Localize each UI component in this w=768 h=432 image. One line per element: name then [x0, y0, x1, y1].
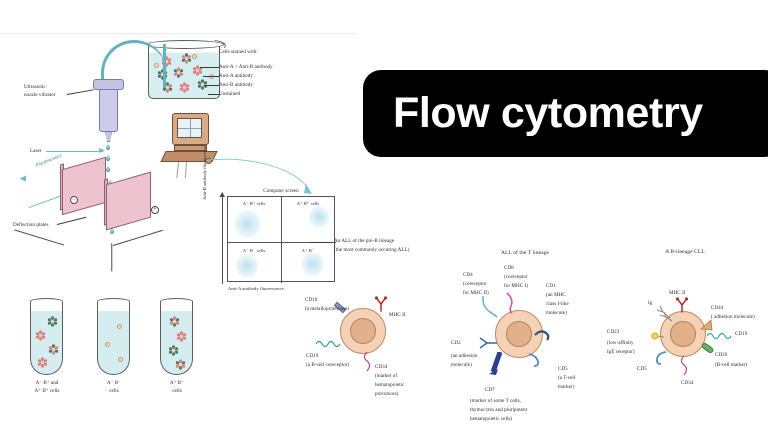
ultrasonic-label-line1: Ultrasonic — [24, 84, 46, 91]
cd44-desc: ( adhesion molecule) — [711, 314, 755, 321]
cd1-desc-line3: molecule) — [546, 310, 567, 317]
ig-label: Ig — [648, 300, 652, 307]
cd5-desc-line1: (a T-cell — [558, 375, 575, 382]
sorted-cell — [38, 358, 47, 367]
unstained-cell — [190, 52, 199, 61]
plot-cluster-bottom-left — [236, 253, 258, 279]
cd19-name-panel1: CD19 — [306, 353, 318, 360]
fluorescence-arrowhead — [19, 175, 28, 184]
nozzle-tip — [105, 131, 112, 142]
mhc2-marker-icon-panel3 — [675, 297, 689, 313]
computer-screen-display — [177, 118, 202, 138]
laser-arrowhead — [99, 147, 107, 155]
droplet — [106, 166, 110, 172]
sorted-cell — [103, 340, 112, 349]
deflection-plate-right — [106, 172, 151, 231]
cd7-desc-line2: thymocytes and pluripotent — [470, 407, 527, 414]
computer-leg — [185, 162, 187, 178]
sorted-cell — [170, 317, 179, 326]
cd20-name: CD20 — [715, 352, 727, 359]
deflection-plates-label: Deflection plates — [13, 222, 49, 229]
cd2-name: CD2 — [451, 340, 461, 347]
sample-tubing-downspout — [163, 44, 166, 88]
cd7-name: CD7 — [485, 387, 495, 394]
cd34-marker-icon-panel1 — [361, 352, 373, 374]
beaker-legend-item-3: Unstained — [219, 91, 240, 98]
cd5-marker-icon — [528, 352, 544, 368]
cd2-desc-line2: molecule) — [451, 362, 472, 369]
sorted-cell — [116, 355, 125, 364]
cd44-name: CD44 — [711, 305, 723, 312]
tube-label-2-line2: cells — [89, 388, 139, 395]
stained-cell — [193, 66, 202, 75]
stained-cell — [180, 83, 189, 92]
cd19-label-panel3: CD19 — [735, 331, 747, 338]
cd7-marker-icon — [487, 352, 509, 376]
plot-cluster-bottom-right — [302, 251, 324, 277]
slide-title: Flow cytometry — [393, 92, 703, 135]
legend-leader-3 — [208, 94, 219, 95]
legend-leader-2 — [204, 85, 219, 86]
plot-annotation-leader — [310, 242, 332, 243]
sorted-cell — [169, 346, 178, 355]
cd8-marker-icon — [504, 292, 518, 314]
stained-cell — [174, 68, 183, 77]
plot-x-axis-label: Anti-A antibody fluorescence — [228, 286, 284, 292]
beaker-legend-item-1: Anti-A antibody — [219, 73, 253, 80]
cd2-desc-line1: (an adhesion — [451, 353, 477, 360]
plot-horizontal-divider — [228, 242, 336, 243]
tube-label-2-line1: A⁻ B⁻ — [89, 380, 139, 387]
plot-cluster-top-right — [309, 205, 329, 229]
sort-path-right — [113, 230, 163, 246]
cd7-desc-line3: hematopoietic cells) — [470, 416, 512, 423]
ultrasonic-label-line2: nozzle vibrator — [24, 92, 55, 99]
pre-b-cell — [340, 308, 386, 354]
plot-y-axis-arrowhead — [219, 192, 227, 200]
sort-path-center — [112, 243, 113, 271]
cd23-desc-line1: (low-affinity — [607, 340, 634, 347]
quadrant-plot — [227, 196, 335, 282]
cd34-marker-icon-panel3 — [678, 356, 690, 378]
cd8-desc-line2: for MHC I) — [504, 283, 528, 290]
ultrasonic-nozzle-vibrator — [99, 89, 118, 132]
charge-positive-icon: + — [151, 206, 159, 214]
mhc2-label-panel3: MHC II — [669, 290, 686, 297]
tube-label-1-line2: A⁺ B⁺ cells — [22, 388, 72, 395]
ultrasonic-leader — [67, 89, 94, 94]
cd5-label-panel3: CD5 — [637, 366, 647, 373]
sorted-cell — [115, 322, 124, 331]
cd20-desc: (B-cell marker) — [715, 362, 747, 369]
cd34-desc-line3: precursors) — [375, 391, 398, 398]
legend-leader-1 — [203, 76, 219, 77]
cd10-desc: (a metalloproteinase) — [305, 306, 349, 313]
cd19-desc-panel1: (a B-cell coreceptor) — [306, 362, 349, 369]
plot-quadrant-top-left: A⁻ B⁺ cells — [233, 201, 275, 207]
cd1-name: CD1 — [546, 283, 556, 290]
plot-title: Computer screen — [231, 188, 331, 195]
sorted-cell — [48, 317, 57, 326]
plot-quadrant-bottom-right: A⁺ B⁻ — [287, 248, 329, 254]
charge-negative-icon: − — [70, 196, 78, 204]
cd5-name-panel2: CD5 — [558, 366, 568, 373]
cd34-name-panel1: CD34 — [375, 364, 387, 371]
plot-quadrant-top-right: A⁺ B⁺ cells — [287, 201, 329, 207]
tube-label-3-line1: A⁺ B⁻ — [152, 380, 202, 387]
cd1-desc-line2: class I-like — [546, 301, 569, 308]
plot-y-axis-label: Anti-B antibody fluorescence — [202, 120, 207, 200]
computer-leg — [176, 162, 178, 178]
cd7-desc-line1: (marker of some T cells, — [470, 398, 521, 405]
plot-y-axis-arrow — [222, 196, 223, 284]
cd34-desc-line1: (marker of — [375, 373, 397, 380]
beaker-rim — [146, 40, 224, 49]
test-tube-2 — [97, 301, 130, 375]
cd1-desc-line1: (an MHC — [546, 292, 566, 299]
laser-beam — [46, 151, 103, 152]
beaker-legend-heading: Cells stained with: — [219, 49, 258, 56]
cd34-desc-line2: hematopoietic — [375, 382, 405, 389]
cd8-desc-line1: (coreceptor — [504, 274, 528, 281]
cd10-name: CD10 — [305, 297, 317, 304]
mhc2-marker-icon-panel1 — [374, 296, 388, 312]
cd5-desc-line2: marker) — [558, 384, 574, 391]
droplet — [106, 155, 110, 161]
plot-vertical-divider — [281, 197, 282, 283]
plot-quadrant-bottom-left: A⁻ B⁻ cells — [233, 248, 275, 254]
cd5-marker-icon-panel3 — [652, 350, 668, 366]
cd34-label-panel3: CD34 — [681, 380, 693, 387]
plot-annotation-line1: An ALL of the pre-B lineage — [334, 238, 394, 245]
sorted-cell — [49, 345, 58, 354]
b-cll-title: A B-lineage CLL — [625, 249, 745, 256]
cd4-desc-line1: (coreceptor — [463, 281, 487, 288]
t-lineage-title: ALL of the T lineage — [460, 250, 590, 257]
cd2-marker-icon — [478, 336, 498, 350]
slide-canvas: Flow cytometry — [0, 0, 768, 432]
cd8-name: CD8 — [504, 265, 514, 272]
laser-label: Laser — [30, 148, 42, 155]
beaker-legend-item-0: Anti-A + Anti-B antibody — [219, 64, 273, 71]
cd4-name: CD4 — [463, 272, 473, 279]
beaker-legend-item-2: Anti-B antibody — [219, 82, 253, 89]
fluorescence-label: Fluorescence — [35, 153, 63, 169]
tube-label-1-line1: A⁻ B⁺ and — [22, 380, 72, 387]
cd4-desc-line2: for MHC II) — [463, 290, 489, 297]
cd1-marker-icon — [534, 327, 552, 343]
legend-leader-0 — [200, 67, 219, 68]
plot-annotation-line2: (the most commonly occuring ALL) — [334, 247, 409, 254]
sorted-cell — [177, 332, 186, 341]
ig-marker-icon — [656, 304, 674, 322]
deflection-plate-left — [62, 157, 106, 216]
sort-path-left — [14, 230, 64, 246]
slide-title-badge: Flow cytometry — [363, 70, 768, 157]
deflection-leader — [57, 217, 86, 225]
unstained-cell — [207, 72, 216, 81]
cd23-desc-line2: IgE receptor) — [607, 349, 635, 356]
sorted-cell — [36, 331, 45, 340]
cd23-marker-icon — [650, 330, 666, 342]
tube-label-3-line2: cells — [152, 388, 202, 395]
plot-cluster-top-left — [234, 209, 261, 239]
header-divider — [0, 33, 356, 34]
cd4-marker-icon — [481, 295, 499, 319]
cd23-name: CD23 — [607, 329, 619, 336]
cd19-marker-icon-panel3 — [707, 330, 735, 340]
cd19-marker-icon-panel1 — [316, 338, 342, 348]
sorted-cell — [176, 360, 185, 369]
mhc2-label-panel1: MHC II — [389, 312, 406, 319]
